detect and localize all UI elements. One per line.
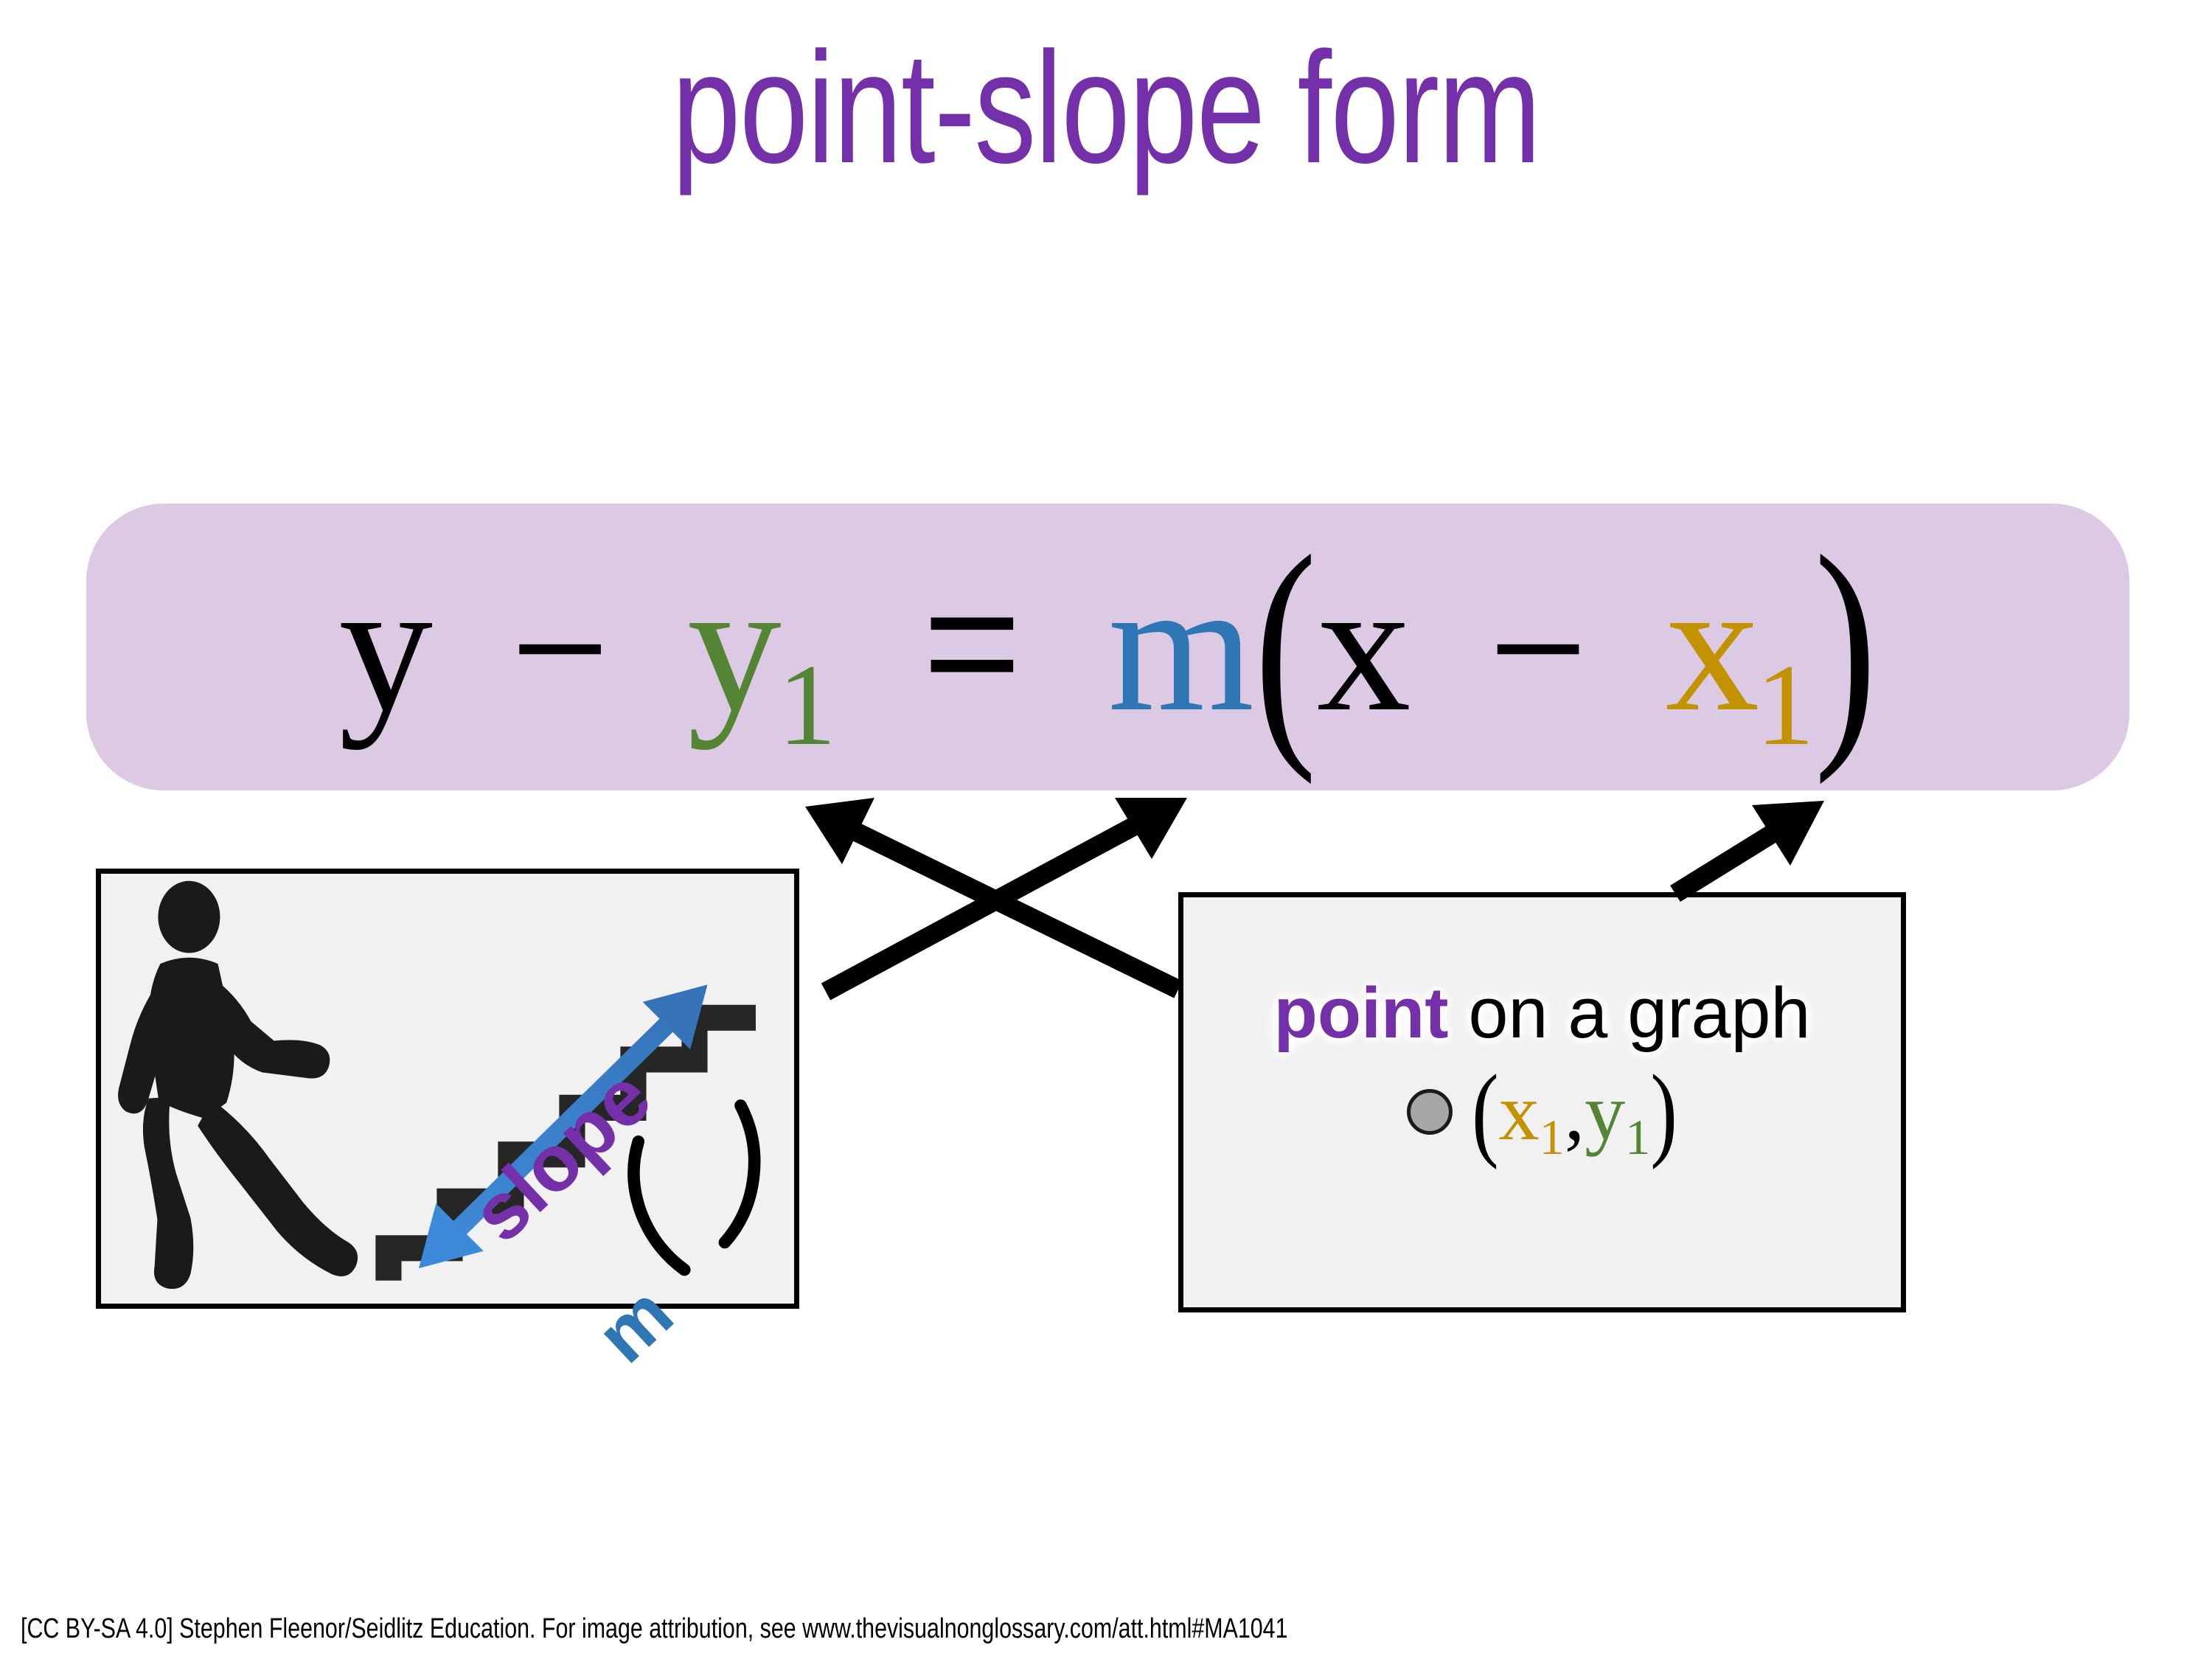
formula-equals: = [922,557,1021,727]
gray-point-dot-icon [1407,1089,1453,1135]
formula-minus-1: – [519,563,601,710]
formula-y: y [339,553,434,741]
formula-m: m [1108,553,1254,741]
formula-y-sub-index: 1 [778,641,836,770]
person-climbing-stairs-icon [101,874,794,1304]
formula-x-sub-1: x1 [1666,553,1815,741]
point-coordinate-expression: (x1,y1) [1472,1071,1677,1152]
coordinate-paren-close: ) [1650,1059,1677,1164]
formula-y-sub-letter: y [687,543,782,751]
coordinate-y: y [1585,1067,1625,1157]
point-box-to-x1-arrow [1675,801,1824,894]
formula-x-sub-letter: x [1666,543,1760,751]
coordinate-x: x [1499,1067,1540,1157]
coordinate-comma: , [1565,1067,1585,1157]
coordinate-paren-open: ( [1472,1059,1499,1164]
point-definition-box: point on a graph (x1,y1) [1178,892,1906,1312]
slope-illustration-box: slope m [96,869,799,1309]
formula-minus-2: – [1498,563,1579,710]
attribution-footer: [CC BY-SA 4.0] Stephen Fleenor/Seidlitz … [21,1613,1288,1645]
slope-box-to-m-arrow [826,798,1187,992]
coordinate-x-index: 1 [1540,1109,1565,1165]
page-title: point-slope form [243,28,1969,187]
connector-arrows-layer [0,0,2212,1659]
formula-y-sub-1: y1 [687,553,836,741]
point-coordinate-line: (x1,y1) [1183,1071,1901,1152]
formula-x-sub-index: 1 [1756,641,1814,770]
point-box-to-y1-arrow [805,798,1178,990]
point-keyword: point [1274,973,1449,1053]
coordinate-y-index: 1 [1625,1109,1650,1165]
point-slope-formula: y – y1 = m ( x – x1 ) [86,504,2129,790]
point-box-heading: point on a graph [1183,977,1901,1048]
formula-x: x [1317,553,1411,741]
formula-paren-close: ) [1815,519,1877,773]
point-heading-rest: on a graph [1449,973,1811,1053]
formula-paren-open: ( [1254,519,1317,773]
formula-highlight-bar: y – y1 = m ( x – x1 ) [86,504,2129,790]
